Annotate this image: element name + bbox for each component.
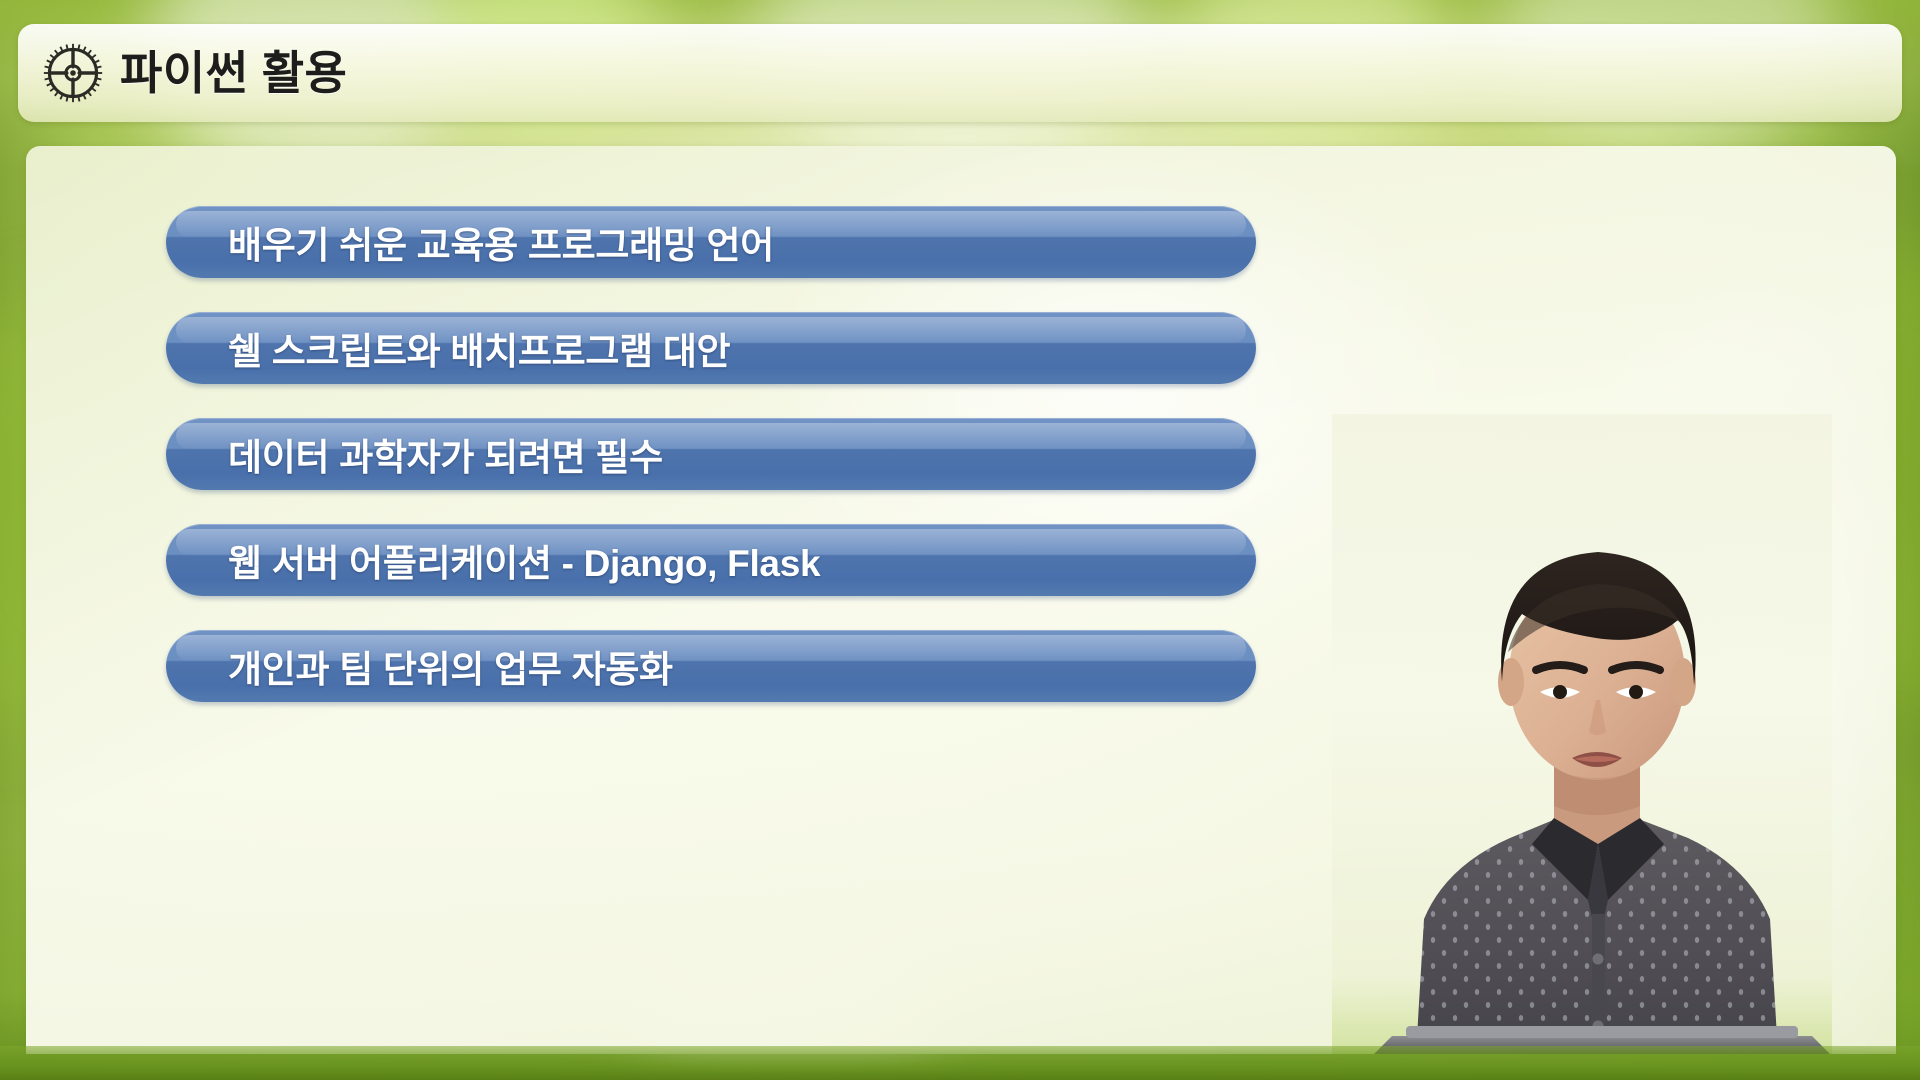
gear-icon bbox=[42, 42, 104, 104]
bullet-label: 웹 서버 어플리케이션 - Django, Flask bbox=[228, 533, 820, 587]
slide-stage: 파이썬 활용 배우기 쉬운 교육용 프로그래밍 언어 쉘 스크립트와 배치프로그… bbox=[0, 0, 1920, 1080]
bullet-label: 쉘 스크립트와 배치프로그램 대안 bbox=[228, 321, 730, 375]
presenter-video-overlay bbox=[1296, 414, 1896, 1054]
bullet-item: 웹 서버 어플리케이션 - Django, Flask bbox=[166, 524, 1256, 596]
bullet-label: 배우기 쉬운 교육용 프로그래밍 언어 bbox=[228, 215, 774, 269]
bullet-item: 데이터 과학자가 되려면 필수 bbox=[166, 418, 1256, 490]
bullet-item: 개인과 팀 단위의 업무 자동화 bbox=[166, 630, 1256, 702]
presenter-backdrop bbox=[1332, 414, 1832, 1054]
bullet-item: 쉘 스크립트와 배치프로그램 대안 bbox=[166, 312, 1256, 384]
slide-header-bar: 파이썬 활용 bbox=[18, 24, 1902, 122]
bullet-item: 배우기 쉬운 교육용 프로그래밍 언어 bbox=[166, 206, 1256, 278]
slide-content-panel: 배우기 쉬운 교육용 프로그래밍 언어 쉘 스크립트와 배치프로그램 대안 데이… bbox=[26, 146, 1896, 1054]
bullet-list: 배우기 쉬운 교육용 프로그래밍 언어 쉘 스크립트와 배치프로그램 대안 데이… bbox=[166, 206, 1256, 736]
page-title: 파이썬 활용 bbox=[120, 50, 347, 96]
bullet-label: 개인과 팀 단위의 업무 자동화 bbox=[228, 639, 673, 693]
presenter-figure bbox=[1296, 414, 1896, 1054]
bullet-label: 데이터 과학자가 되려면 필수 bbox=[228, 427, 663, 481]
bottom-green-band bbox=[0, 1046, 1920, 1080]
